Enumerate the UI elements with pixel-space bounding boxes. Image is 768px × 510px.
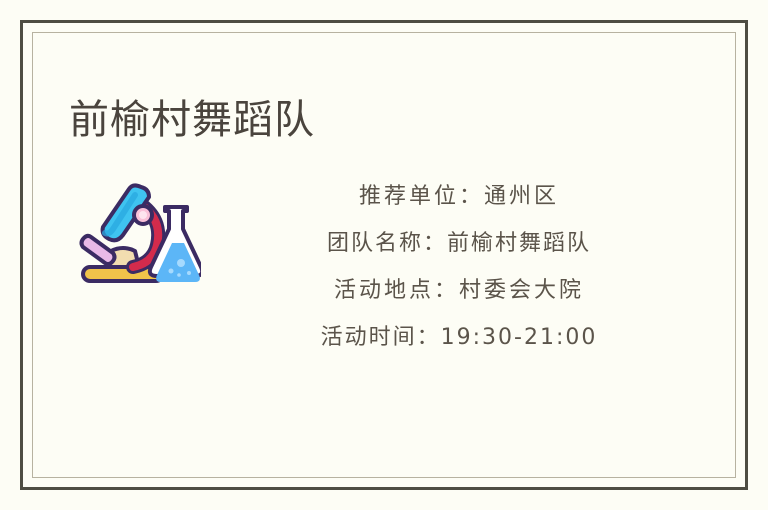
card-content-row: 推荐单位：通州区 团队名称：前榆村舞蹈队 活动地点：村委会大院 活动时间：19:… [33, 173, 735, 361]
info-card-inner-border: 前榆村舞蹈队 [32, 32, 736, 478]
microscope-flask-icon [75, 181, 201, 293]
info-line-activity-location: 活动地点：村委会大院 [334, 267, 584, 314]
info-line-recommending-unit: 推荐单位：通州区 [359, 173, 559, 220]
info-list: 推荐单位：通州区 团队名称：前榆村舞蹈队 活动地点：村委会大院 活动时间：19:… [213, 173, 735, 361]
info-line-activity-time: 活动时间：19:30-21:00 [321, 314, 598, 361]
info-card: 前榆村舞蹈队 [20, 20, 748, 490]
icon-container [63, 173, 213, 293]
info-line-team-name: 团队名称：前榆村舞蹈队 [327, 220, 591, 267]
page-title: 前榆村舞蹈队 [69, 98, 315, 142]
